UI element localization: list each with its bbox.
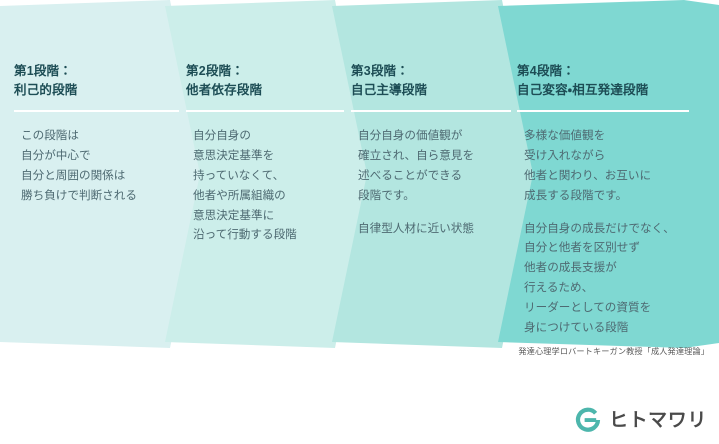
stage-rule-4: [517, 110, 689, 112]
stage-content-2: 第2段階： 他者依存段階 自分自身の 意思決定基準を 持っていなくて、 他者や所…: [186, 62, 344, 245]
stage-rule-2: [186, 110, 344, 112]
brand-logo: ヒトマワリ: [575, 407, 707, 433]
stage-body-3-0: 自分自身の価値観が 確立され、自ら意見を 述べることができる 段階です。: [358, 126, 511, 206]
stage-chevron-band: 第1段階： 利己的段階 この段階は 自分が中心で 自分と周囲の関係は 勝ち負けで…: [0, 0, 719, 348]
stage-rule-1: [14, 110, 179, 112]
stage-title-3: 第3段階： 自己主導段階: [351, 62, 511, 101]
stage-body-4-0: 多様な価値観を 受け入れながら 他者と関わり、お互いに 成長する段階です。: [524, 126, 689, 206]
stage-title-4: 第4段階： 自己変容・相互発達段階: [517, 62, 689, 101]
hitomawari-circle-icon: [575, 407, 601, 433]
stage-body-3-1: 自律型人材に近い状態: [358, 219, 511, 239]
stage-content-3: 第3段階： 自己主導段階 自分自身の価値観が 確立され、自ら意見を 述べることが…: [351, 62, 511, 238]
stage-title-1: 第1段階： 利己的段階: [14, 62, 179, 101]
source-citation: 発達心理学ロバートキーガン教授「成人発達理論」: [518, 345, 709, 357]
brand-logo-text: ヒトマワリ: [609, 411, 707, 430]
stage-rule-3: [351, 110, 511, 112]
stage-title-2: 第2段階： 他者依存段階: [186, 62, 344, 101]
infographic-root: 第1段階： 利己的段階 この段階は 自分が中心で 自分と周囲の関係は 勝ち負けで…: [0, 0, 719, 444]
stage-body-2-0: 自分自身の 意思決定基準を 持っていなくて、 他者や所属組織の 意思決定基準に …: [193, 126, 344, 246]
stage-body-4-1: 自分自身の成長だけでなく、 自分と他者を区別せず 他者の成長支援が 行えるため、…: [524, 219, 689, 339]
stage-content-1: 第1段階： 利己的段階 この段階は 自分が中心で 自分と周囲の関係は 勝ち負けで…: [14, 62, 179, 206]
stage-body-1-0: この段階は 自分が中心で 自分と周囲の関係は 勝ち負けで判断される: [21, 126, 179, 206]
stage-content-4: 第4段階： 自己変容・相互発達段階 多様な価値観を 受け入れながら 他者と関わり…: [517, 62, 689, 338]
stage-panel-4: 第4段階： 自己変容・相互発達段階 多様な価値観を 受け入れながら 他者と関わり…: [498, 0, 719, 348]
